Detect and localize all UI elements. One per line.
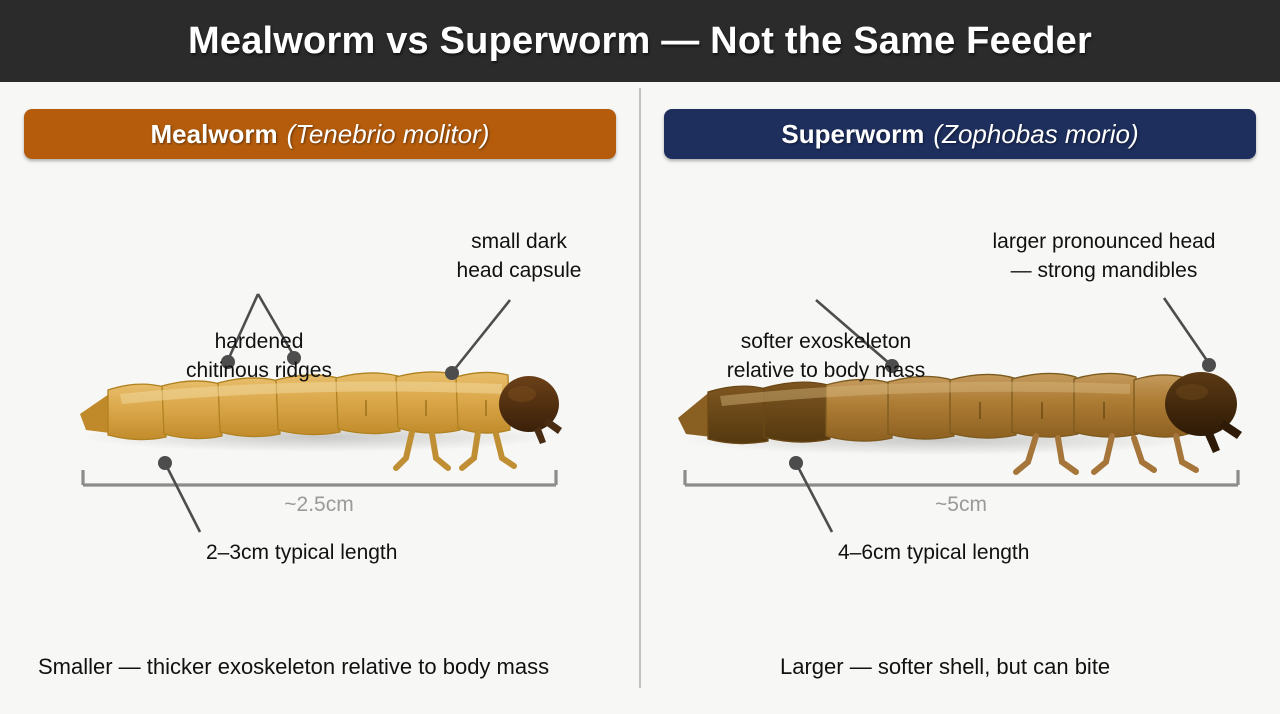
annotation-line-2: chitinous ridges [140, 356, 378, 385]
annotation-head-capsule: small dark head capsule [428, 227, 610, 285]
superworm-mandible-lower [1205, 430, 1220, 453]
leader-line-length [797, 465, 832, 532]
mealworm-length-note: 2–3cm typical length [206, 541, 397, 565]
superworm-summary: Larger — softer shell, but can bite [780, 654, 1110, 680]
mealworm-illustration [0, 82, 640, 714]
annotation-line-2: head capsule [428, 256, 610, 285]
leader-dot-length [789, 456, 803, 470]
comparison-body: Mealworm (Tenebrio molitor) [0, 82, 1280, 714]
mealworm-dimension-label: ~2.5cm [239, 493, 399, 517]
annotation-chitinous-ridges: hardened chitinous ridges [140, 327, 378, 385]
annotation-line-1: small dark [471, 230, 567, 253]
leader-line-pronounced-head [1164, 298, 1208, 362]
annotation-line-2: relative to body mass [706, 356, 946, 385]
superworm-length-note: 4–6cm typical length [838, 541, 1029, 565]
leader-dot-length [158, 456, 172, 470]
panel-mealworm: Mealworm (Tenebrio molitor) [0, 82, 640, 714]
annotation-softer-exoskeleton: softer exoskeleton relative to body mass [706, 327, 946, 385]
page-title: Mealworm vs Superworm — Not the Same Fee… [188, 20, 1092, 63]
panel-superworm: Superworm (Zophobas morio) [640, 82, 1280, 714]
annotation-line-2: — strong mandibles [964, 256, 1244, 285]
superworm-dimension-label: ~5cm [881, 493, 1041, 517]
leader-dot-head-capsule [445, 366, 459, 380]
annotation-line-1: larger pronounced head [992, 230, 1215, 253]
leader-line-head-capsule [454, 300, 510, 370]
annotation-line-1: softer exoskeleton [741, 330, 911, 353]
annotation-line-1: hardened [215, 330, 304, 353]
infographic-root: Mealworm vs Superworm — Not the Same Fee… [0, 0, 1280, 714]
mealworm-length-bracket [83, 470, 556, 485]
leader-line-length [166, 465, 200, 532]
mealworm-summary: Smaller — thicker exoskeleton relative t… [38, 654, 549, 680]
leader-dot-pronounced-head [1202, 358, 1216, 372]
title-bar: Mealworm vs Superworm — Not the Same Fee… [0, 0, 1280, 82]
superworm-illustration [640, 82, 1280, 714]
annotation-pronounced-head: larger pronounced head — strong mandible… [964, 227, 1244, 285]
